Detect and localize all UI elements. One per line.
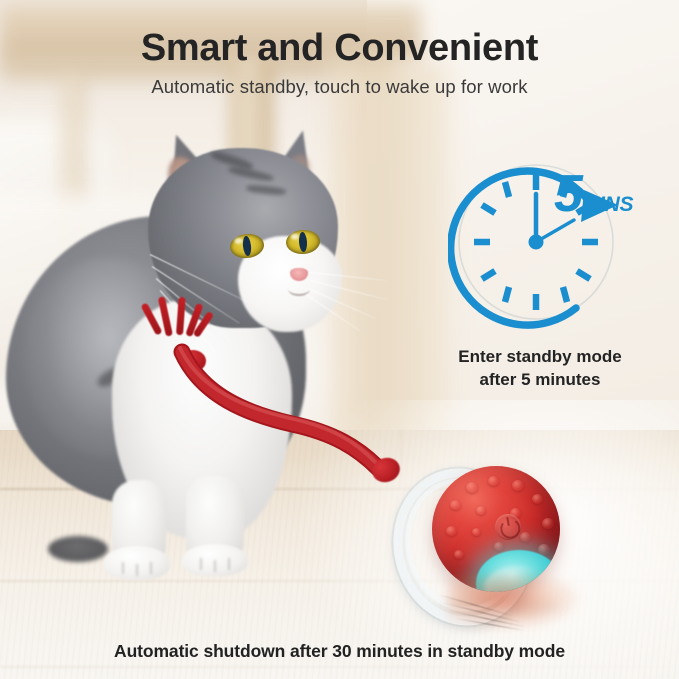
page-subtitle: Automatic standby, touch to wake up for … (0, 76, 679, 98)
cat-ball-toy (392, 452, 582, 627)
clock-caption-line-1: Enter standby mode (400, 346, 679, 369)
cat-paw (104, 546, 170, 580)
product-feature-poster: 5MINS Smart and Convenient Automatic sta… (0, 0, 679, 679)
cat-paw (182, 544, 248, 576)
page-title: Smart and Convenient (0, 28, 679, 70)
cat-rear-paw (48, 536, 108, 562)
clock-minutes-unit: MINS (582, 193, 633, 216)
footer-caption: Automatic shutdown after 30 minutes in s… (0, 641, 679, 662)
standby-clock-graphic: 5MINS (448, 142, 678, 342)
clock-value-label: 5MINS (554, 164, 633, 224)
clock-caption-line-2: after 5 minutes (400, 369, 679, 392)
cat-eye-highlight (290, 233, 298, 240)
cat-eye-highlight (234, 237, 243, 244)
clock-minutes-number: 5 (554, 165, 582, 223)
power-icon (499, 517, 522, 540)
clock-caption: Enter standby mode after 5 minutes (400, 346, 679, 392)
